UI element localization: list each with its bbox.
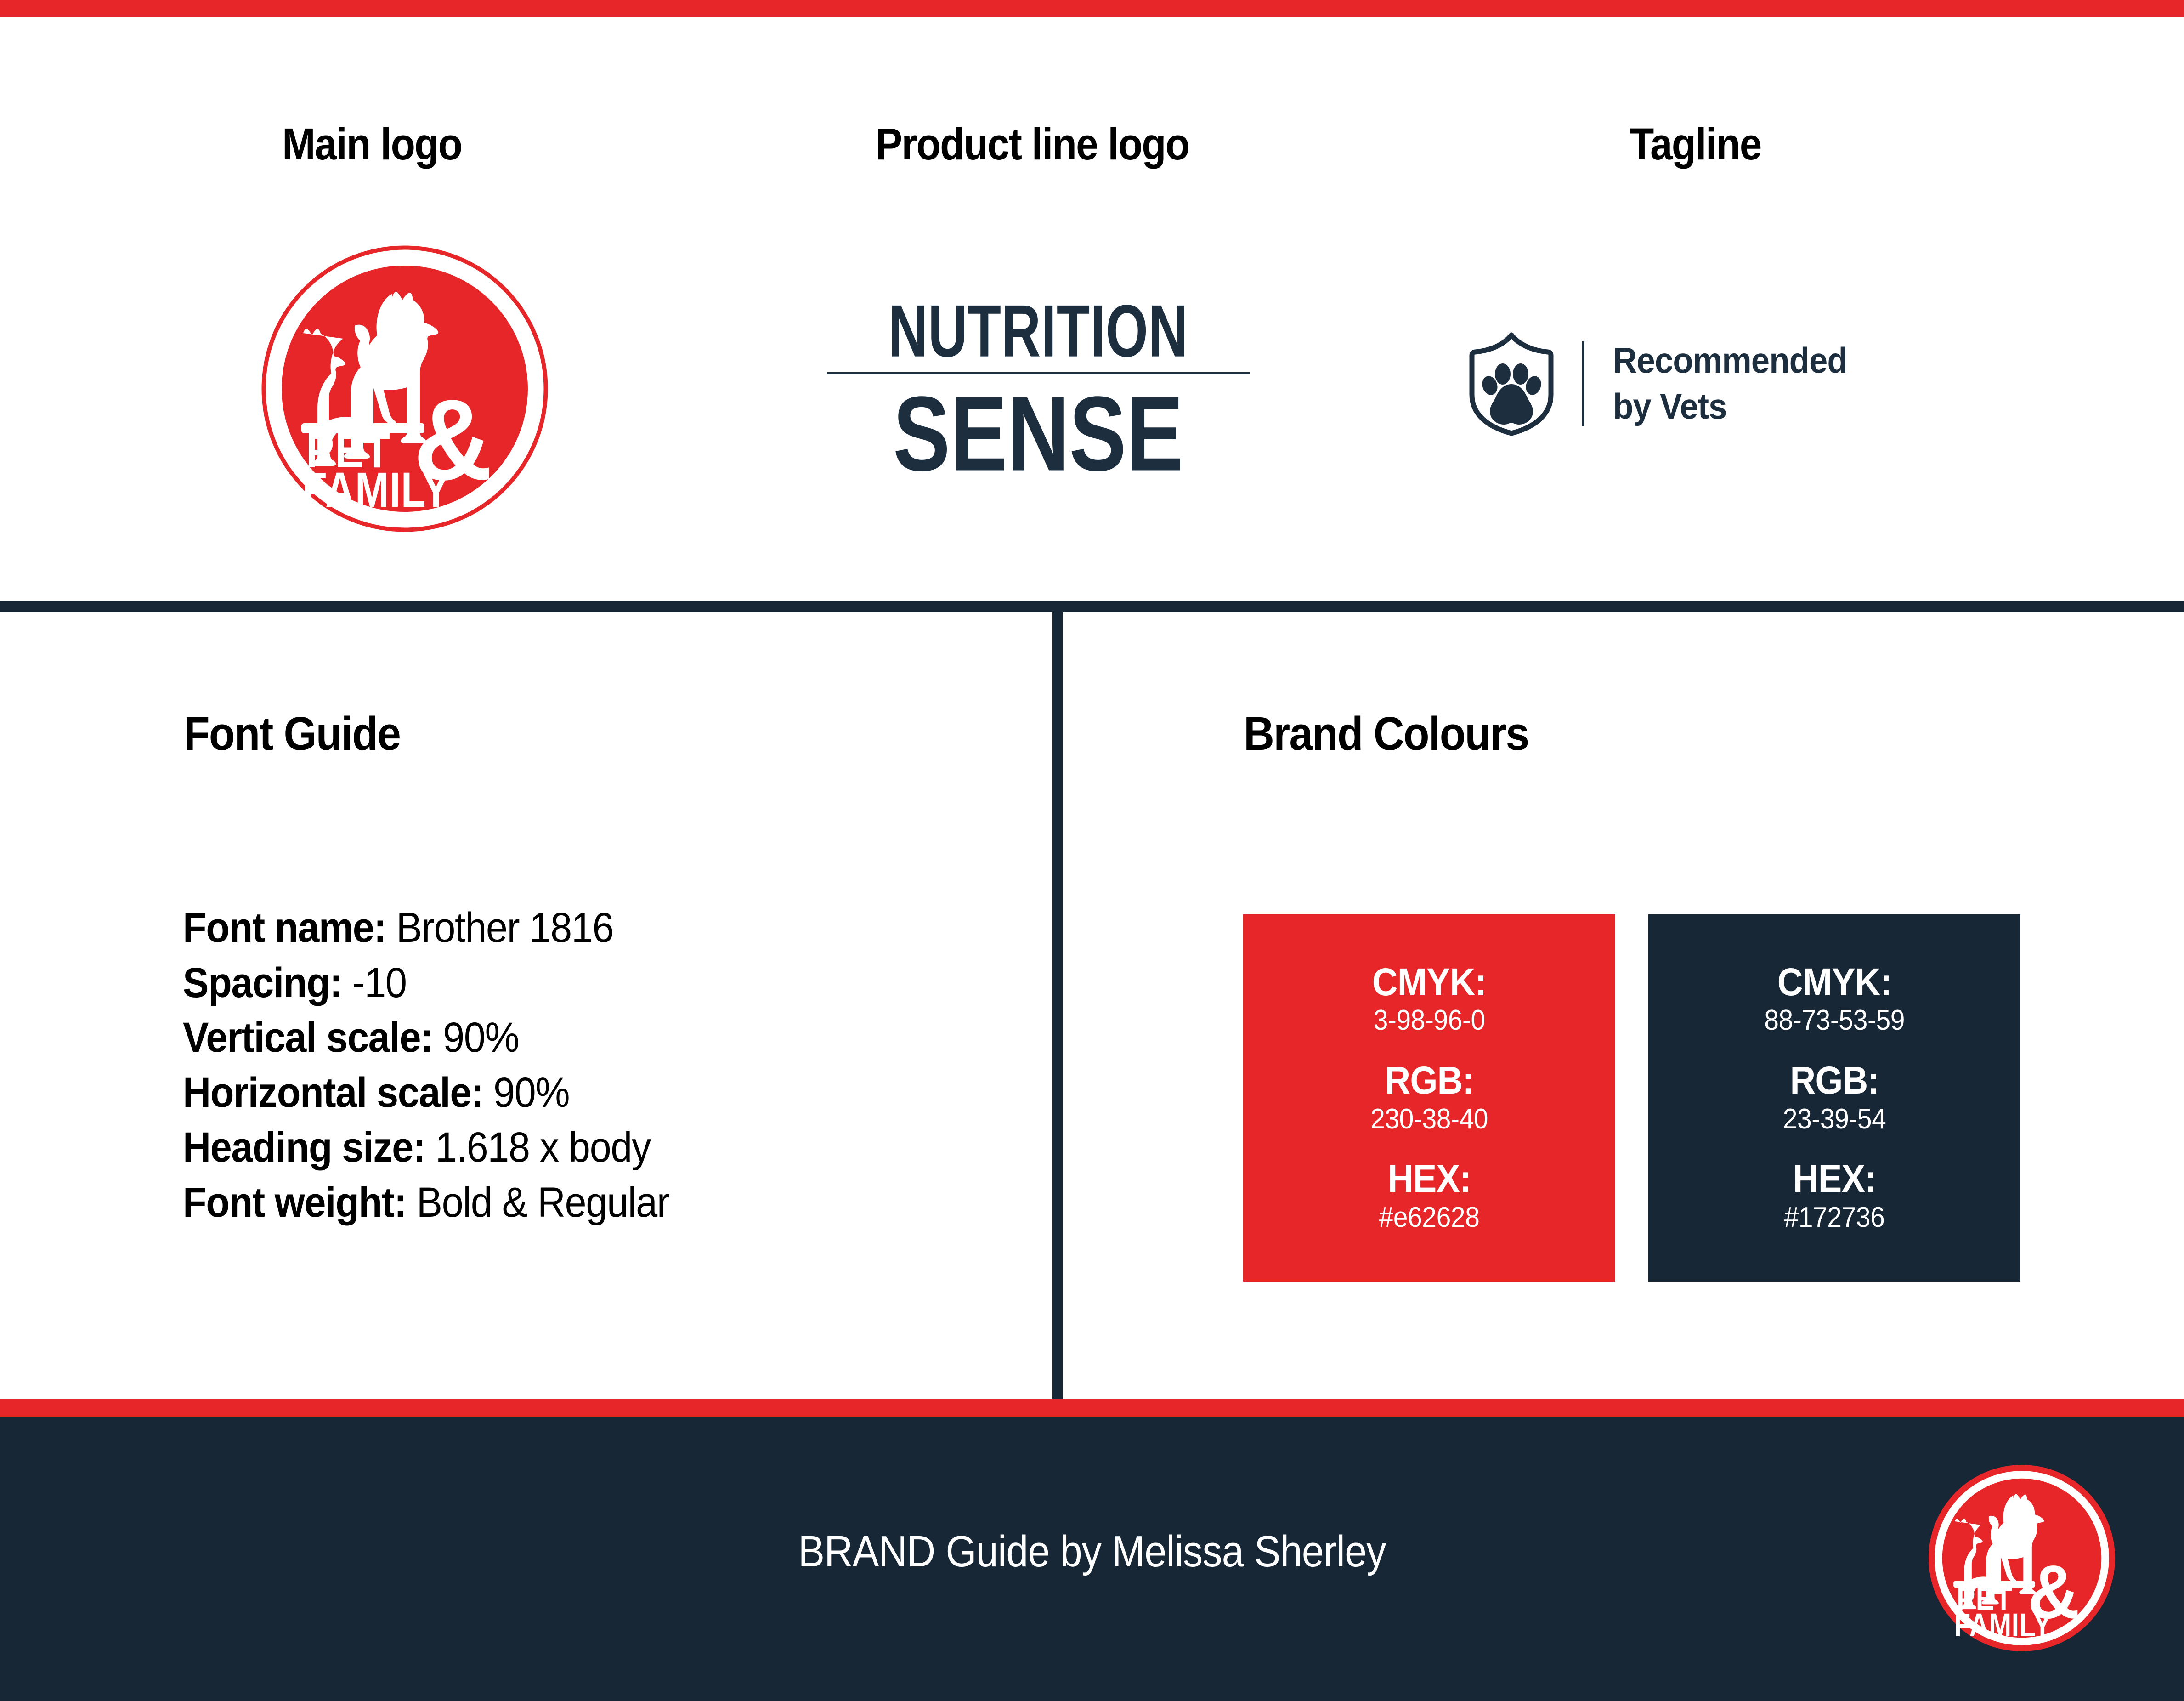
swatch-rgb-value: 23-39-54 xyxy=(1783,1101,1886,1137)
font-guide-row: Font name: Brother 1816 xyxy=(183,901,944,956)
colour-swatch-red: CMYK: 3-98-96-0 RGB: 230-38-40 HEX: #e62… xyxy=(1243,914,1615,1282)
vertical-divider xyxy=(1052,612,1063,1399)
swatch-hex-label: HEX: xyxy=(1793,1158,1876,1200)
swatch-rgb-label: RGB: xyxy=(1385,1060,1474,1101)
main-logo: PET FAMILY & xyxy=(261,245,549,533)
font-guide-label: Heading size: xyxy=(183,1124,436,1171)
product-logo-line2: SENSE xyxy=(861,381,1216,487)
font-guide-value: -10 xyxy=(352,959,407,1006)
font-guide-row: Spacing: -10 xyxy=(183,956,944,1011)
heading-main-logo: Main logo xyxy=(282,119,462,170)
heading-tagline: Tagline xyxy=(1630,119,1761,170)
footer-credit: BRAND Guide by Melissa Sherley xyxy=(109,1526,2075,1577)
tagline-text: Recommended by Vets xyxy=(1613,338,1847,430)
shield-paw-icon xyxy=(1468,331,1555,436)
swatch-cmyk-value: 3-98-96-0 xyxy=(1373,1003,1485,1038)
swatch-cmyk-label: CMYK: xyxy=(1777,961,1892,1003)
heading-product-line-logo: Product line logo xyxy=(876,119,1189,170)
svg-text:&: & xyxy=(413,375,492,504)
bottom-accent-bar xyxy=(0,1399,2184,1417)
swatch-rgb-value: 230-38-40 xyxy=(1370,1101,1488,1137)
font-guide-label: Font weight: xyxy=(183,1179,417,1226)
font-guide-label: Vertical scale: xyxy=(183,1014,443,1061)
font-guide-row: Horizontal scale: 90% xyxy=(183,1066,944,1121)
font-guide-value: Bold & Regular xyxy=(417,1179,669,1226)
swatch-hex-value: #e62628 xyxy=(1379,1200,1480,1236)
colour-swatch-navy: CMYK: 88-73-53-59 RGB: 23-39-54 HEX: #17… xyxy=(1648,914,2020,1282)
tagline-line1: Recommended xyxy=(1613,338,1847,384)
font-guide-row: Heading size: 1.618 x body xyxy=(183,1120,944,1175)
font-guide-label: Font name: xyxy=(183,904,396,951)
swatch-cmyk-label: CMYK: xyxy=(1372,961,1487,1003)
product-logo-divider-rule xyxy=(827,372,1250,374)
svg-text:&: & xyxy=(2028,1550,2080,1634)
font-guide-label: Spacing: xyxy=(183,959,352,1006)
heading-font-guide: Font Guide xyxy=(184,707,400,761)
font-guide-value: Brother 1816 xyxy=(396,904,613,951)
font-guide-row: Font weight: Bold & Regular xyxy=(183,1175,944,1230)
brand-guide-page: Main logo Product line logo Tagline PET … xyxy=(0,0,2184,1701)
pet-and-family-logo-icon: PET FAMILY & xyxy=(1927,1463,2117,1653)
swatch-hex-value: #172736 xyxy=(1784,1200,1885,1236)
font-guide-value: 90% xyxy=(443,1014,519,1061)
heading-brand-colours: Brand Colours xyxy=(1244,707,1528,761)
font-guide-value: 1.618 x body xyxy=(436,1124,651,1171)
footer-logo: PET FAMILY & xyxy=(1927,1463,2117,1653)
tagline-separator xyxy=(1582,341,1584,426)
tagline-badge: Recommended by Vets xyxy=(1468,317,1973,450)
product-logo-line1: NUTRITION xyxy=(873,294,1203,368)
font-guide-value: 90% xyxy=(493,1069,569,1116)
font-guide-row: Vertical scale: 90% xyxy=(183,1010,944,1066)
product-line-logo: NUTRITION SENSE xyxy=(827,294,1250,483)
horizontal-divider xyxy=(0,601,2184,612)
swatch-rgb-label: RGB: xyxy=(1790,1060,1879,1101)
swatch-hex-label: HEX: xyxy=(1388,1158,1471,1200)
font-guide-list: Font name: Brother 1816 Spacing: -10 Ver… xyxy=(183,901,1010,1230)
top-accent-bar xyxy=(0,0,2184,17)
swatch-cmyk-value: 88-73-53-59 xyxy=(1764,1003,1905,1038)
tagline-line2: by Vets xyxy=(1613,384,1847,430)
pet-and-family-logo-icon: PET FAMILY & xyxy=(261,245,549,533)
font-guide-label: Horizontal scale: xyxy=(183,1069,493,1116)
